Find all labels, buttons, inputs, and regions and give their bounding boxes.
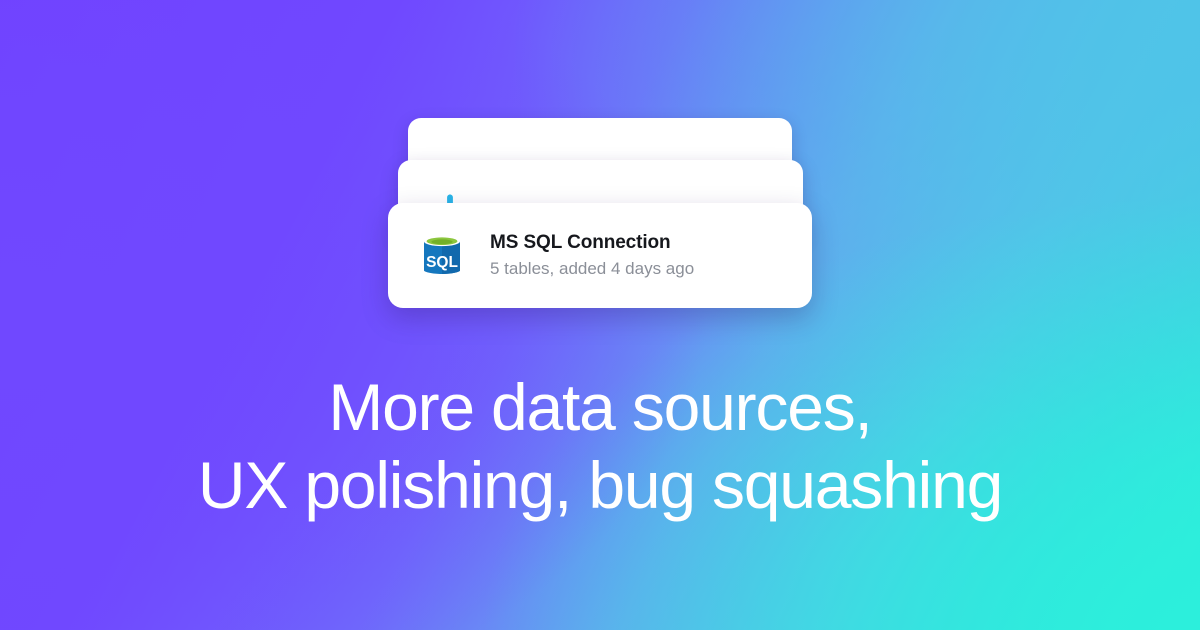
mssql-icon-label: SQL [426, 254, 458, 271]
mssql-icon: SQL [414, 228, 470, 284]
headline-line-2: UX polishing, bug squashing [0, 446, 1200, 524]
headline-line-1: More data sources, [0, 368, 1200, 446]
connection-subtitle: 5 tables, added 4 days ago [490, 258, 694, 280]
connection-title: MS SQL Connection [490, 231, 694, 255]
connection-card-stack: MariaDB Connection Sneeuwvlok Connection [0, 0, 1200, 340]
connection-card-mssql[interactable]: SQL MS SQL Connection 5 tables, added 4 … [388, 203, 812, 308]
page-headline: More data sources, UX polishing, bug squ… [0, 368, 1200, 524]
